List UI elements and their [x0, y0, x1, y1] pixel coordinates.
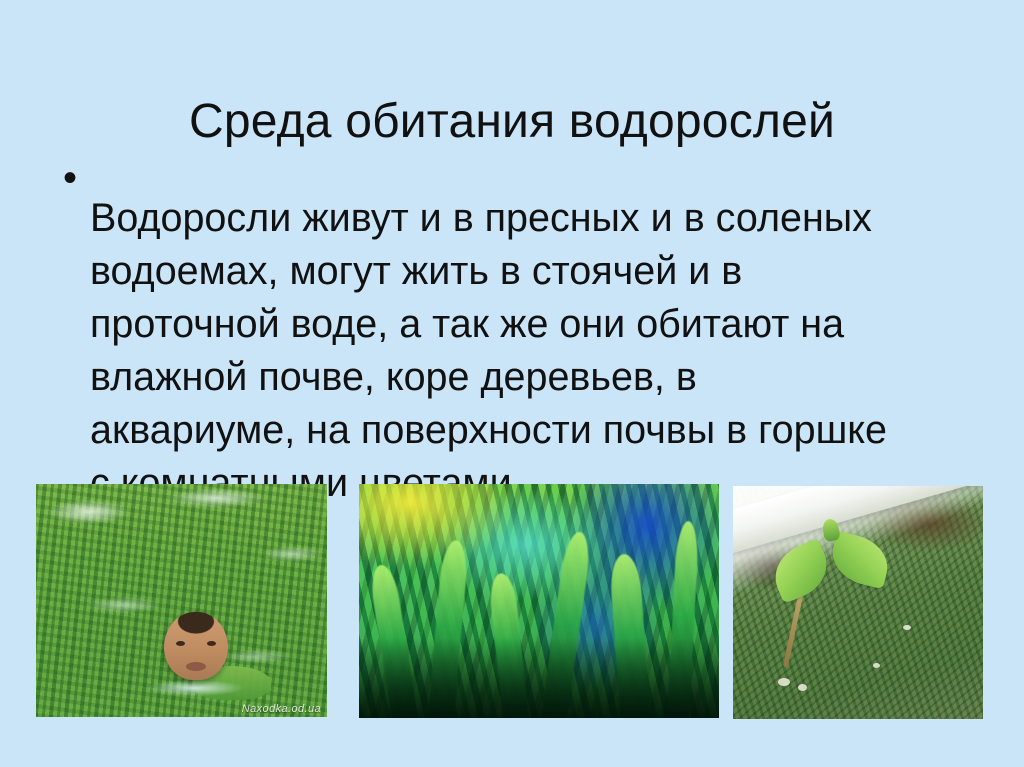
boy-mouth — [186, 662, 206, 671]
body-line: водоемах, могут жить в стоячей и в — [90, 245, 970, 298]
water-ripple — [147, 680, 243, 696]
soil-pebble — [903, 625, 911, 630]
photo-seedling-on-mossy-soil — [733, 486, 983, 719]
body-line: Водоросли живут и в пресных и в соленых — [90, 192, 970, 245]
soil-pebble — [873, 663, 880, 668]
boy-head — [164, 612, 228, 680]
presentation-slide: Среда обитания водорослей • Водоросли жи… — [0, 0, 1024, 767]
soil-pebble — [778, 678, 790, 686]
soil-pebble — [798, 684, 807, 691]
photo-underwater-seaweed — [359, 484, 719, 718]
body-line: проточной воде, а так же они обитают на — [90, 298, 970, 351]
photo-boy-in-algae-water: Naxodka.od.ua — [36, 484, 327, 717]
page-title: Среда обитания водорослей — [0, 94, 1024, 150]
plant-leaf — [766, 538, 836, 603]
body-line: влажной почве, коре деревьев, в — [90, 351, 970, 404]
list-item-label: Водоросли живут и в пресных и в соленых … — [90, 192, 970, 510]
photo-watermark: Naxodka.od.ua — [242, 703, 321, 715]
bullet-point-icon: • — [60, 152, 90, 205]
seabed-shadow — [359, 638, 719, 718]
body-line: аквариуме, на поверхности почвы в горшке — [90, 404, 970, 457]
